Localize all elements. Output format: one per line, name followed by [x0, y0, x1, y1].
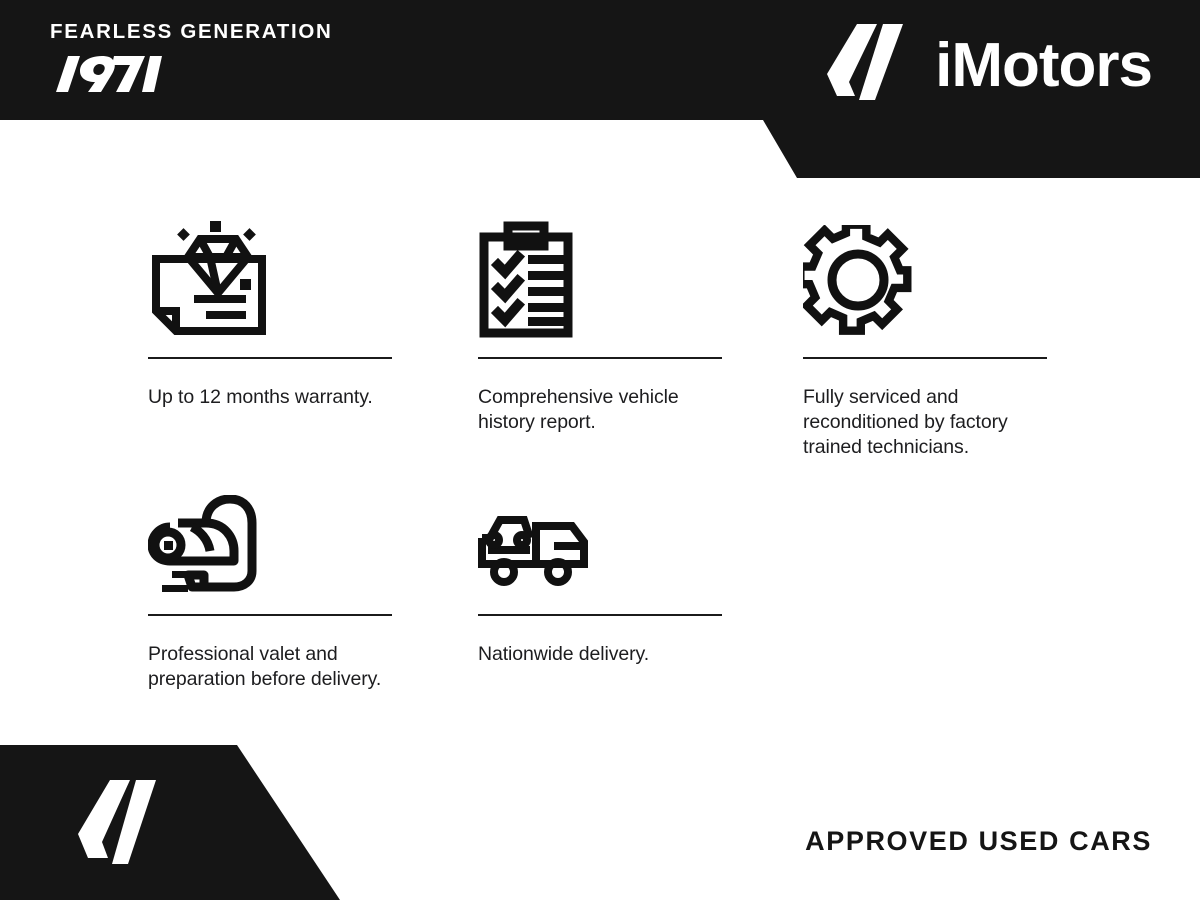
header-banner: FEARLESS GENERATION: [0, 0, 1200, 180]
feature-label: Nationwide delivery.: [478, 642, 728, 667]
promo-graphic: FEARLESS GENERATION: [0, 0, 1200, 900]
gear-cog-icon: [803, 205, 1025, 355]
feature-item: Professional valet and preparation befor…: [148, 482, 478, 692]
brand-lockup: iMotors: [827, 24, 1152, 108]
feature-label: Up to 12 months warranty.: [148, 385, 398, 410]
vacuum-cleaner-icon: [148, 482, 450, 612]
features-grid: Up to 12 months warranty.: [148, 205, 1068, 692]
feature-divider: [148, 614, 392, 616]
brand-name: iMotors: [935, 35, 1152, 97]
header-tagline: FEARLESS GENERATION: [50, 22, 333, 43]
feature-divider: [148, 357, 392, 359]
feature-divider: [803, 357, 1047, 359]
year-1971-icon: [50, 52, 162, 96]
feature-item: Nationwide delivery.: [478, 482, 803, 692]
feature-item: Fully serviced and reconditioned by fact…: [803, 205, 1053, 460]
feature-label: Fully serviced and reconditioned by fact…: [803, 385, 1025, 460]
fearless-generation-block: FEARLESS GENERATION: [50, 22, 333, 96]
feature-item: Up to 12 months warranty.: [148, 205, 478, 460]
car-transporter-truck-icon: [478, 482, 775, 612]
feature-item: Comprehensive vehicle history report.: [478, 205, 803, 460]
footer-tagline: APPROVED USED CARS: [805, 826, 1152, 857]
feature-label: Comprehensive vehicle history report.: [478, 385, 728, 435]
feature-divider: [478, 614, 722, 616]
warranty-certificate-diamond-icon: [148, 205, 450, 355]
imotors-chevron-logo-icon: [78, 780, 168, 872]
feature-placeholder: [803, 482, 1053, 692]
footer-background-shape: [0, 745, 340, 900]
header-background-shape: [0, 0, 1200, 180]
imotors-chevron-logo-icon: [827, 24, 913, 108]
feature-divider: [478, 357, 722, 359]
clipboard-checklist-icon: [478, 205, 775, 355]
feature-label: Professional valet and preparation befor…: [148, 642, 398, 692]
